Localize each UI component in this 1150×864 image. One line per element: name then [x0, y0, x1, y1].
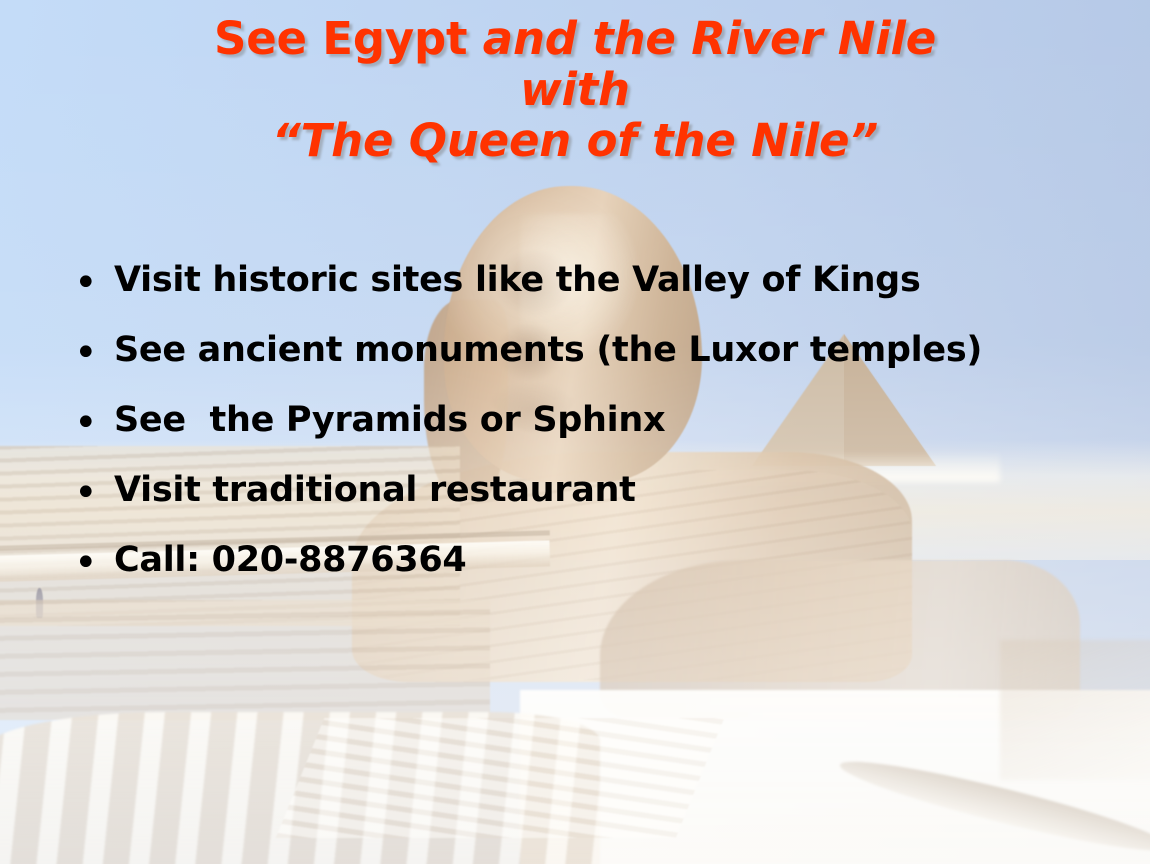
list-item: • Visit traditional restaurant [66, 468, 1026, 518]
bullet-text: Visit traditional restaurant [114, 468, 1026, 512]
list-item: • See the Pyramids or Sphinx [66, 398, 1026, 448]
bullet-marker-icon: • [66, 538, 114, 588]
title-line2: with [520, 63, 630, 116]
bullet-marker-icon: • [66, 258, 114, 308]
bullet-text: See ancient monuments (the Luxor temples… [114, 328, 1004, 372]
bullet-marker-icon: • [66, 398, 114, 448]
presentation-slide: See Egypt and the River Nile with “The Q… [0, 0, 1150, 864]
list-item: • Visit historic sites like the Valley o… [66, 258, 1026, 308]
slide-content: See Egypt and the River Nile with “The Q… [0, 0, 1150, 864]
title-line1-plain: See Egypt [214, 12, 483, 65]
bullet-list: • Visit historic sites like the Valley o… [66, 258, 1026, 608]
list-item: • See ancient monuments (the Luxor templ… [66, 328, 1026, 378]
title-line3: “The Queen of the Nile” [272, 114, 878, 167]
bullet-text: Call: 020-8876364 [114, 538, 1026, 582]
bullet-marker-icon: • [66, 468, 114, 518]
bullet-marker-icon: • [66, 328, 114, 378]
bullet-text: See the Pyramids or Sphinx [114, 398, 1026, 442]
title-line1-italic: and the River Nile [483, 12, 936, 65]
bullet-text: Visit historic sites like the Valley of … [114, 258, 1004, 302]
slide-title: See Egypt and the River Nile with “The Q… [0, 14, 1150, 167]
list-item: • Call: 020-8876364 [66, 538, 1026, 588]
